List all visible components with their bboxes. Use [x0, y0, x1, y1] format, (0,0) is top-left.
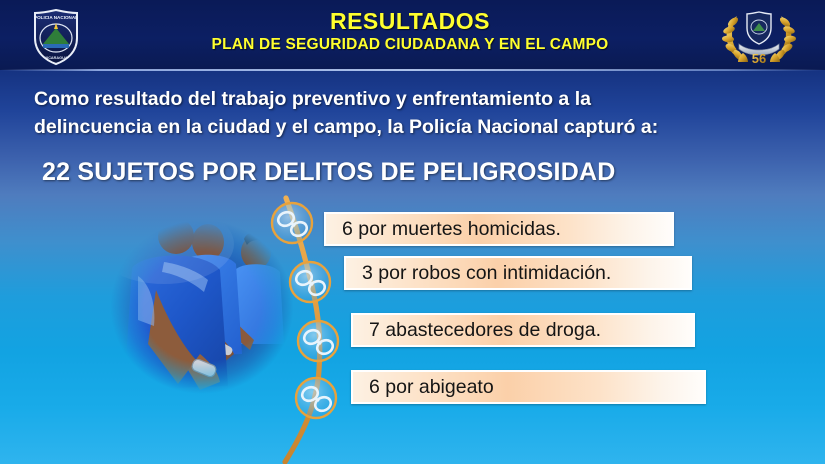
page-title: RESULTADOS [120, 8, 700, 34]
intro-line-2: delincuencia en la ciudad y el campo, la… [34, 113, 794, 141]
intro-paragraph: Como resultado del trabajo preventivo y … [34, 85, 794, 141]
callout-label: 3 por robos con intimidación. [346, 262, 611, 285]
handcuffs-icon [296, 378, 336, 418]
anniversary-laurel-emblem: 56 [713, 6, 805, 66]
callout-label: 6 por muertes homicidas. [326, 218, 561, 241]
anniversary-number: 56 [752, 51, 766, 66]
callout-box: 6 por muertes homicidas. [324, 212, 674, 246]
callout-box: 6 por abigeato [351, 370, 706, 404]
callout-box: 7 abastecedores de droga. [351, 313, 695, 347]
slide-root: POLICIA NACIONAL NICARAGUA [0, 0, 825, 464]
svg-text:NICARAGUA: NICARAGUA [44, 56, 67, 60]
intro-line-1: Como resultado del trabajo preventivo y … [34, 88, 591, 110]
handcuffs-icon [272, 203, 312, 243]
svg-text:POLICIA NACIONAL: POLICIA NACIONAL [34, 15, 78, 20]
headline-text: 22 SUJETOS POR DELITOS DE PELIGROSIDAD [42, 158, 742, 187]
callout-box: 3 por robos con intimidación. [344, 256, 692, 290]
handcuffs-icon [298, 321, 338, 361]
header-divider [0, 69, 825, 71]
callout-label: 6 por abigeato [353, 376, 494, 399]
policia-nacional-shield-logo: POLICIA NACIONAL NICARAGUA [20, 8, 92, 66]
callout-label: 7 abastecedores de droga. [353, 319, 601, 342]
header-title-block: RESULTADOS PLAN DE SEGURIDAD CIUDADANA Y… [120, 8, 700, 54]
handcuffs-icon [290, 262, 330, 302]
page-subtitle: PLAN DE SEGURIDAD CIUDADANA Y EN EL CAMP… [120, 35, 700, 54]
